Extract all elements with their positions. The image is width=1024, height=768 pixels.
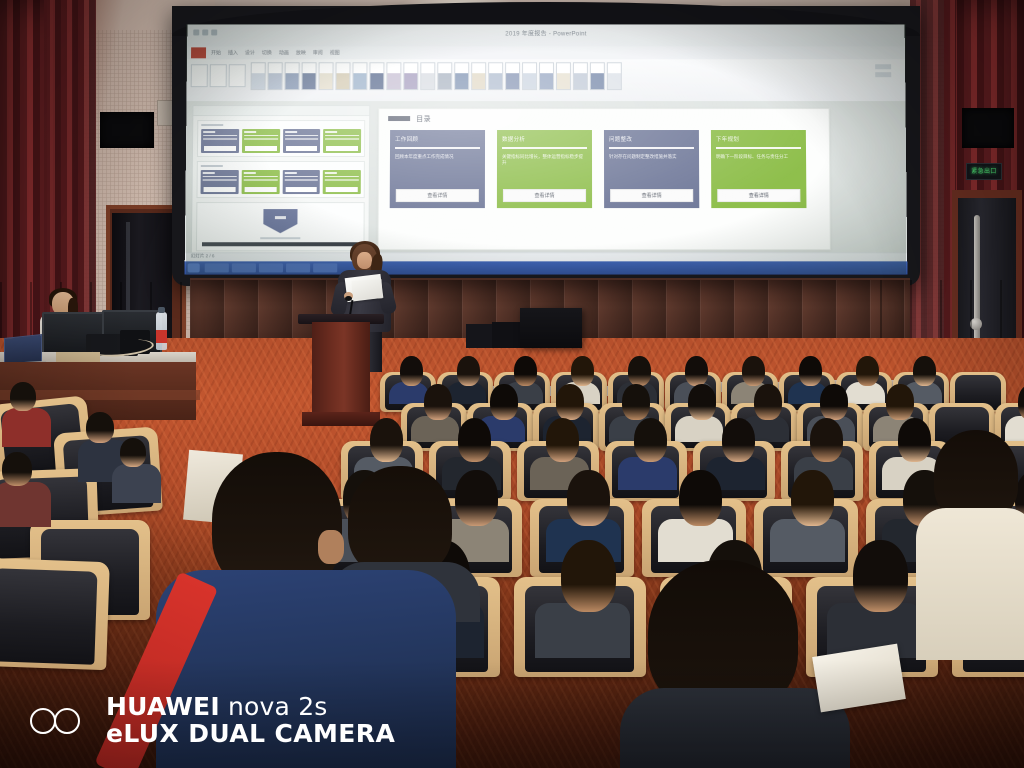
foreground-attendee-ear — [318, 530, 344, 564]
audience-member-head — [634, 418, 667, 462]
audience-member-head — [86, 412, 114, 443]
audience-member-head — [913, 356, 936, 386]
audience-member-head — [853, 540, 908, 612]
attendee-shirt — [916, 508, 1024, 660]
audience-member-head — [546, 418, 579, 462]
audience-member-head — [685, 356, 708, 386]
watermark-line-2: eLUX DUAL CAMERA — [106, 721, 395, 748]
audience-member-head — [567, 470, 610, 526]
audience-member-head — [688, 384, 715, 420]
watermark-line-1: HUAWEI nova 2s — [106, 694, 395, 721]
watermark-text: HUAWEI nova 2s eLUX DUAL CAMERA — [106, 694, 395, 747]
audience-member-head — [556, 384, 583, 420]
audience-member-head — [742, 356, 765, 386]
audience-member-head — [400, 356, 423, 386]
audience-member-head — [120, 438, 146, 467]
audience-member-head — [791, 470, 834, 526]
audience-member-head — [810, 418, 843, 462]
audience-member-head — [622, 384, 649, 420]
audience-member-head — [457, 356, 480, 386]
audience-member-head — [722, 418, 755, 462]
audience-member-head — [754, 384, 781, 420]
audience-member-head — [10, 382, 36, 411]
photo-canvas: 紧急出口 2019 年度报告 - PowerPoint 开始插入设计切换动画放映… — [0, 0, 1024, 768]
audience-member-head — [571, 356, 594, 386]
audience-member-head — [2, 452, 32, 486]
audience-member-head — [679, 470, 722, 526]
audience-member-head — [514, 356, 537, 386]
foreground-attendee-right-shoulders — [620, 688, 850, 768]
camera-watermark: HUAWEI nova 2s eLUX DUAL CAMERA — [30, 694, 395, 747]
audience-member-head — [424, 384, 451, 420]
audience-member-head — [628, 356, 651, 386]
audience-member-head — [799, 356, 822, 386]
audience-member-head — [490, 384, 517, 420]
auditorium-seat-side — [0, 558, 110, 670]
audience-member-head — [856, 356, 879, 386]
audience-member-shoulders — [0, 482, 51, 527]
watermark-model: nova 2s — [228, 692, 328, 721]
watermark-brand: HUAWEI — [106, 692, 220, 721]
audience-member-head — [820, 384, 847, 420]
audience-member-shoulders — [2, 408, 51, 447]
attendee-beige-shirt — [916, 430, 1024, 660]
audience-member-head — [561, 540, 616, 612]
audience-member-head — [886, 384, 913, 420]
dual-camera-icon — [30, 706, 92, 736]
